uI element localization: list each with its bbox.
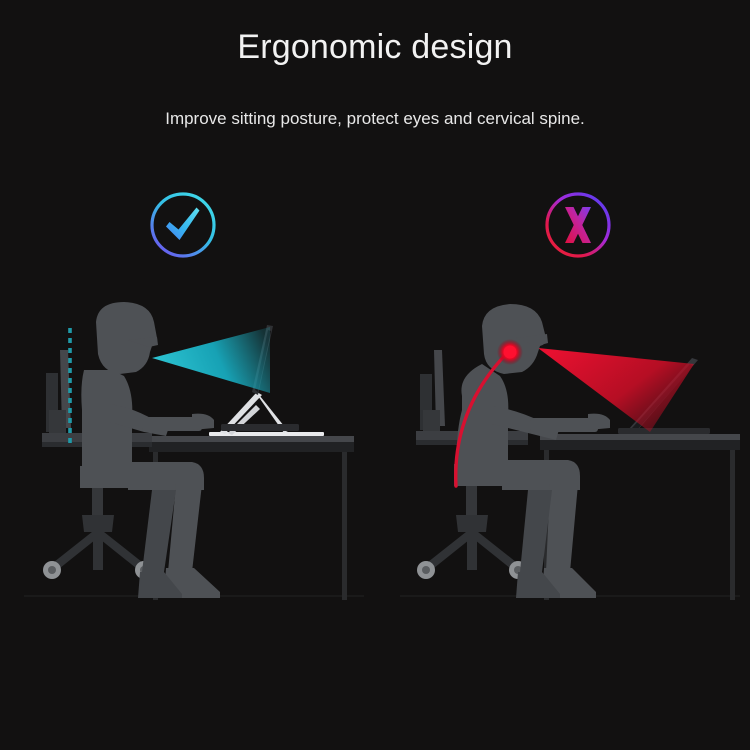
correct-sitting-posture-illustration — [24, 300, 364, 630]
page-title: Ergonomic design — [0, 26, 750, 68]
page-subtitle: Improve sitting posture, protect eyes an… — [0, 107, 750, 131]
bad-posture-svg — [400, 300, 740, 630]
person-figure-hunched — [454, 304, 610, 598]
good-posture-svg — [24, 300, 364, 630]
gaze-cone-good — [152, 327, 270, 393]
x-mark-icon — [543, 190, 613, 260]
ergonomic-design-infographic: Ergonomic design Improve sitting posture… — [0, 0, 750, 750]
incorrect-sitting-posture-illustration — [400, 300, 740, 630]
x-mark-badge — [543, 190, 613, 260]
neck-pain-marker-core-icon — [504, 346, 517, 359]
check-mark-badge — [148, 190, 218, 260]
check-mark-icon — [148, 190, 218, 260]
